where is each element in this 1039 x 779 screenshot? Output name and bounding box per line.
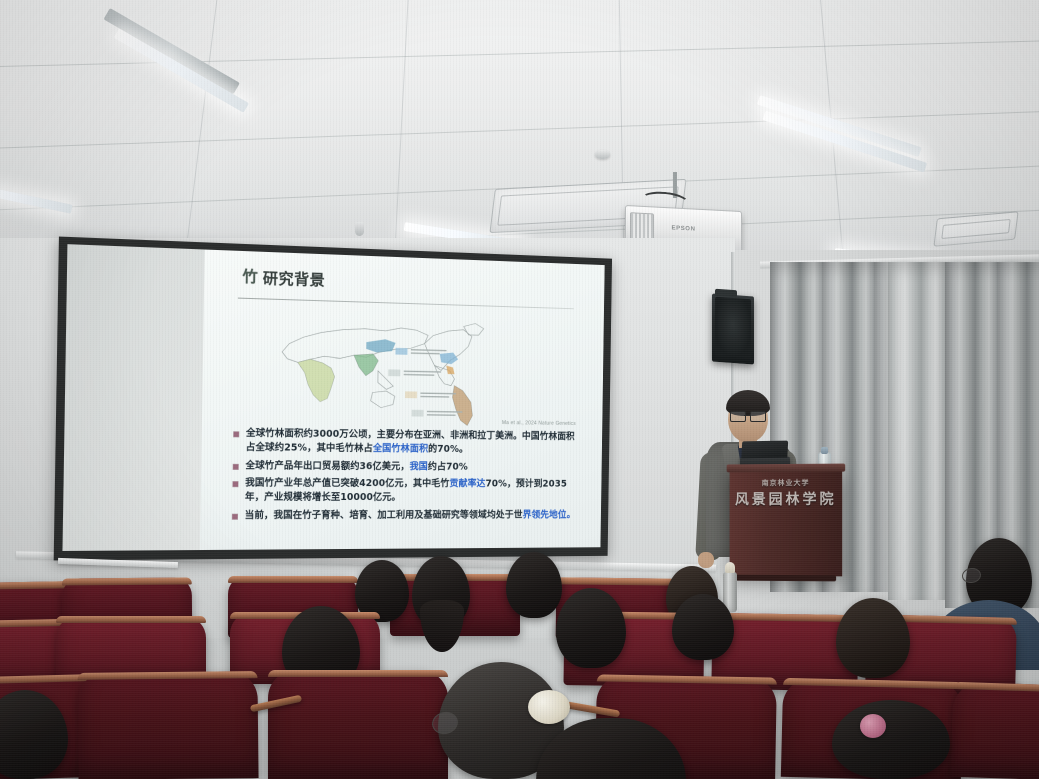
slide: 竹 研究背景 (200, 250, 605, 551)
projection-screen[interactable]: 竹 研究背景 (54, 237, 612, 561)
air-conditioning-vent (933, 211, 1018, 247)
ceiling: EPSON (0, 0, 1039, 262)
audience-head (832, 700, 950, 779)
slide-citation: Ma et al., 2024 Nature Genetics (502, 420, 576, 427)
auditorium-seat[interactable] (951, 682, 1039, 779)
bamboo-logo-icon: 竹 (242, 269, 258, 285)
podium-top-surface (727, 464, 846, 473)
slide-bullet-item: 当前，我国在竹子育种、培育、加工利用及基础研究等领域均处于世界领先地位。 (232, 508, 576, 522)
ceiling-light-tube (114, 28, 249, 113)
projection-screen-surface[interactable]: 竹 研究背景 (62, 244, 604, 551)
audience-head (506, 552, 562, 618)
wall-mounted-loudspeaker (712, 294, 754, 365)
glasses-lens-right (750, 411, 766, 422)
podium-university-label: 南京林业大学 (730, 478, 843, 489)
bullet-text: 全球竹林面积约3000万公顷，主要分布在亚洲、非洲和拉丁美洲。中国竹林面积占全球… (246, 427, 578, 457)
podium: 南京林业大学 风景园林学院 (730, 470, 843, 577)
slide-bullet-item: 我国竹产业年总产值已突破4200亿元，其中毛竹贡献率达70%，预计到2035年，… (233, 477, 577, 505)
presenter-glasses-icon (730, 411, 766, 420)
presenter-hand (698, 552, 714, 568)
bullet-text: 我国竹产业年总产值已突破4200亿元，其中毛竹贡献率达70%，预计到2035年，… (245, 477, 577, 505)
bullet-marker-icon (233, 464, 238, 469)
auditorium-seat[interactable] (268, 670, 448, 779)
auditorium-seat[interactable] (77, 671, 258, 779)
sprinkler-icon (355, 222, 364, 236)
laptop-screen (741, 441, 788, 459)
ac-vent-inner-frame (941, 219, 1010, 239)
slide-title: 研究背景 (263, 267, 326, 290)
world-map-svg (261, 305, 520, 427)
speaker-grille (715, 297, 751, 359)
podium-base (736, 575, 837, 582)
slide-bullet-list: 全球竹林面积约3000万公顷，主要分布在亚洲、非洲和拉丁美洲。中国竹林面积占全球… (232, 427, 577, 526)
hair-tie (860, 714, 886, 738)
slide-title-row: 竹 研究背景 (242, 266, 325, 290)
bullet-text: 全球竹产品年出口贸易额约36亿美元，我国约占70% (245, 459, 468, 474)
ceiling-tile-seam (393, 0, 409, 260)
bottle-cap (821, 447, 828, 454)
smoke-detector-icon (595, 150, 610, 159)
lecture-hall-photo: EPSON 竹 研究背景 (0, 0, 1039, 779)
hair-tie (528, 690, 570, 724)
screen-blank-area (62, 244, 204, 551)
audience-ponytail (420, 600, 464, 652)
audience-head (836, 598, 910, 678)
bullet-text: 当前，我国在竹子育种、培育、加工利用及基础研究等领域均处于世界领先地位。 (245, 508, 576, 522)
ceiling-tile-seam (184, 0, 219, 259)
slide-bullet-item: 全球竹产品年出口贸易额约36亿美元，我国约占70% (233, 459, 577, 475)
slide-content: 竹 研究背景 (200, 250, 605, 551)
podium-college-label: 风景园林学院 (730, 489, 843, 509)
world-map-figure (261, 305, 520, 427)
thermos-cap (725, 562, 735, 573)
audience-head (556, 588, 626, 668)
glasses-lens-left (730, 411, 746, 422)
audience-head (672, 594, 734, 660)
ceiling-light-grille (104, 8, 240, 94)
bullet-marker-icon (232, 514, 237, 519)
slide-bullet-item: 全球竹林面积约3000万公顷，主要分布在亚洲、非洲和拉丁美洲。中国竹林面积占全球… (233, 427, 577, 457)
bullet-marker-icon (234, 432, 239, 437)
window-curtain[interactable] (888, 262, 948, 600)
bullet-marker-icon (233, 482, 238, 487)
projector-brand-label: EPSON (671, 225, 695, 232)
